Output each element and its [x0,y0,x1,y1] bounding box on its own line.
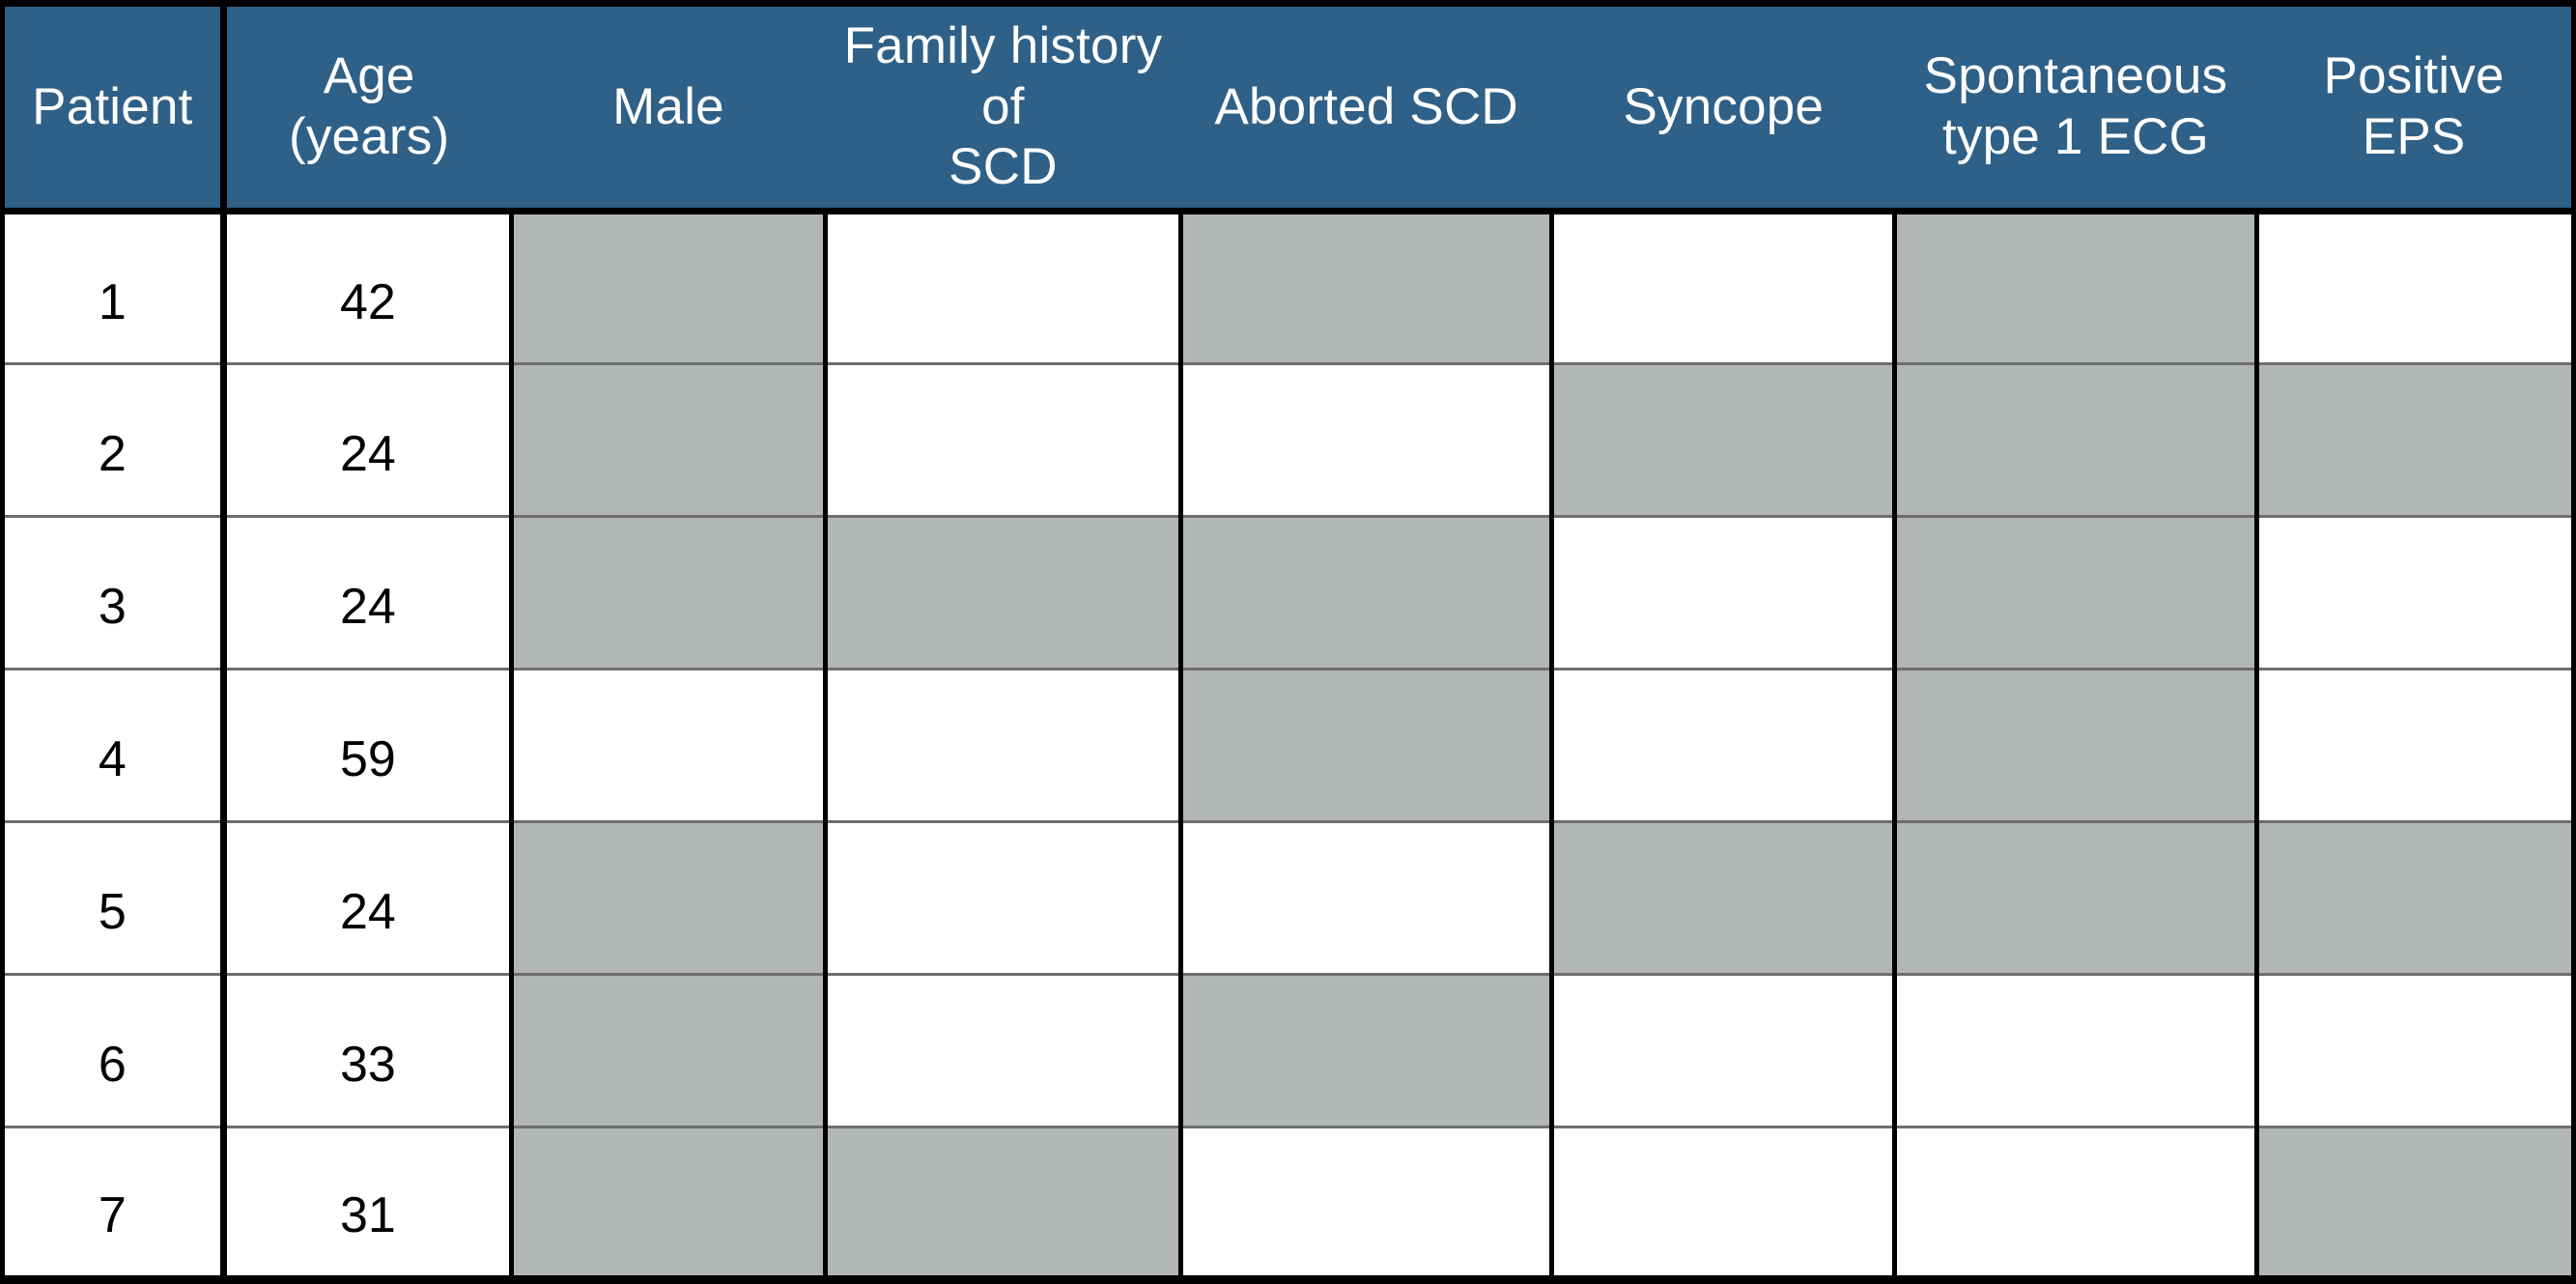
cell-patient: 2 [3,364,224,517]
cell-age: 24 [223,517,511,670]
cell-male-absent [512,670,826,822]
cell-family_history_scd-absent [825,975,1180,1127]
cell-family_history_scd-absent [825,822,1180,975]
table-row: 459 [3,670,2574,822]
header-line: Patient [11,77,214,138]
cell-age: 59 [223,670,511,822]
cell-family_history_scd-present [825,517,1180,670]
header-line: SCD [831,137,1175,198]
cell-patient: 4 [3,670,224,822]
cell-spontaneous_type1_ecg-absent [1895,1127,2257,1280]
header-line: EPS [2262,107,2565,168]
column-header-spontaneous-type-1-ecg: Spontaneous type 1 ECG [1895,4,2257,212]
cell-age: 33 [223,975,511,1127]
cell-male-present [512,975,826,1127]
cell-aborted_scd-absent [1180,1127,1552,1280]
cell-family_history_scd-absent [825,670,1180,822]
header-line: Aborted SCD [1186,77,1546,138]
cell-value: 6 [5,1036,220,1094]
cell-age: 24 [223,822,511,975]
cell-aborted_scd-present [1180,975,1552,1127]
cell-spontaneous_type1_ecg-present [1895,364,2257,517]
cell-positive_eps-absent [2256,517,2573,670]
table-row: 633 [3,975,2574,1127]
cell-age: 31 [223,1127,511,1280]
column-header-patient: Patient [3,4,224,212]
cell-positive_eps-absent [2256,975,2573,1127]
cell-spontaneous_type1_ecg-present [1895,212,2257,364]
table-row: 224 [3,364,2574,517]
header-line: Age [233,46,506,107]
cell-positive_eps-present [2256,822,2573,975]
header-line: Syncope [1558,77,1889,138]
patient-characteristics-table: Patient Age (years) Male Family history … [0,0,2576,1284]
cell-male-present [512,517,826,670]
cell-value: 31 [227,1186,509,1244]
table-body: 142224324459524633731 [3,212,2574,1280]
cell-syncope-absent [1552,517,1895,670]
cell-spontaneous_type1_ecg-present [1895,517,2257,670]
cell-patient: 1 [3,212,224,364]
cell-spontaneous_type1_ecg-present [1895,822,2257,975]
cell-male-present [512,364,826,517]
header-line: Male [518,77,820,138]
cell-positive_eps-present [2256,364,2573,517]
cell-value: 42 [227,273,509,331]
column-header-positive-eps: Positive EPS [2256,4,2573,212]
cell-aborted_scd-present [1180,670,1552,822]
cell-syncope-absent [1552,212,1895,364]
header-line: type 1 ECG [1901,107,2251,168]
cell-patient: 3 [3,517,224,670]
cell-patient: 6 [3,975,224,1127]
column-header-male: Male [512,4,826,212]
column-header-syncope: Syncope [1552,4,1895,212]
cell-aborted_scd-present [1180,517,1552,670]
cell-aborted_scd-present [1180,212,1552,364]
patient-characteristics-table-container: Patient Age (years) Male Family history … [0,0,2576,1201]
cell-value: 5 [5,883,220,941]
cell-syncope-present [1552,822,1895,975]
column-header-age: Age (years) [223,4,511,212]
cell-value: 24 [227,578,509,636]
table-row: 142 [3,212,2574,364]
cell-male-present [512,212,826,364]
table-row: 731 [3,1127,2574,1280]
cell-positive_eps-present [2256,1127,2573,1280]
cell-male-present [512,822,826,975]
cell-value: 24 [227,425,509,483]
cell-patient: 5 [3,822,224,975]
cell-age: 42 [223,212,511,364]
cell-positive_eps-absent [2256,670,2573,822]
cell-family_history_scd-absent [825,364,1180,517]
cell-value: 7 [5,1186,220,1244]
cell-age: 24 [223,364,511,517]
header-line: Positive [2262,46,2565,107]
column-header-aborted-scd: Aborted SCD [1180,4,1552,212]
cell-positive_eps-absent [2256,212,2573,364]
cell-value: 3 [5,578,220,636]
cell-value: 1 [5,273,220,331]
cell-aborted_scd-absent [1180,364,1552,517]
header-line: Spontaneous [1901,46,2251,107]
cell-family_history_scd-present [825,1127,1180,1280]
cell-spontaneous_type1_ecg-absent [1895,975,2257,1127]
cell-value: 2 [5,425,220,483]
header-row: Patient Age (years) Male Family history … [3,4,2574,212]
header-line: Family history of [831,16,1175,137]
cell-male-present [512,1127,826,1280]
cell-value: 59 [227,730,509,788]
cell-syncope-present [1552,364,1895,517]
cell-syncope-absent [1552,975,1895,1127]
cell-syncope-absent [1552,670,1895,822]
cell-value: 33 [227,1036,509,1094]
table-row: 324 [3,517,2574,670]
cell-spontaneous_type1_ecg-present [1895,670,2257,822]
cell-patient: 7 [3,1127,224,1280]
header-line: (years) [233,107,506,168]
cell-syncope-absent [1552,1127,1895,1280]
column-header-family-history-of-scd: Family history of SCD [825,4,1180,212]
cell-value: 4 [5,730,220,788]
table-header: Patient Age (years) Male Family history … [3,4,2574,212]
cell-family_history_scd-absent [825,212,1180,364]
cell-value: 24 [227,883,509,941]
table-row: 524 [3,822,2574,975]
cell-aborted_scd-absent [1180,822,1552,975]
